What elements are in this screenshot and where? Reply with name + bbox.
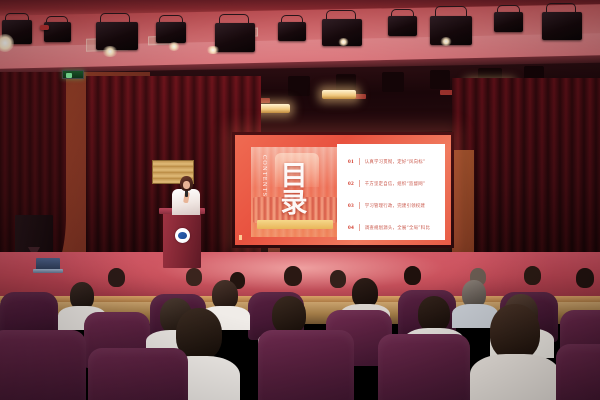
toc-item-text: 认真学习贯彻，定好“风向标” — [365, 159, 426, 165]
toc-item-text: 千方坚定自信，组织“监督网” — [365, 181, 426, 187]
audience-shoulders — [470, 354, 560, 400]
auditorium-photo: CONTENTS 目录 01 认真学习贯彻，定好“风向标” 02 千方坚定自信，… — [0, 0, 600, 400]
slide-heading-chinese: 目录 — [277, 161, 303, 215]
audience-head — [108, 268, 125, 287]
toc-divider — [359, 158, 360, 165]
exit-sign-icon — [62, 70, 84, 79]
light-glow — [338, 38, 349, 46]
warm-stage-light-bar — [322, 90, 356, 99]
auditorium-seat — [88, 348, 188, 400]
toc-divider — [359, 202, 360, 209]
light-glow — [206, 46, 220, 54]
presenter-face — [183, 181, 190, 189]
auditorium-seat — [0, 330, 86, 400]
light-glow — [168, 42, 180, 51]
toc-item-number: 04 — [348, 225, 354, 231]
toc-item: 02 千方坚定自信，组织“监督网” — [348, 180, 425, 187]
auditorium-seat — [258, 330, 354, 400]
slide-contents-english: CONTENTS — [261, 155, 267, 198]
toc-item: 01 认真学习贯彻，定好“风向标” — [348, 158, 425, 165]
microphone-icon — [185, 190, 188, 197]
control-laptop-base — [33, 269, 63, 273]
audience-head — [330, 270, 346, 288]
projection-screen: CONTENTS 目录 01 认真学习贯彻，定好“风向标” 02 千方坚定自信，… — [232, 132, 454, 248]
truss-fixture — [430, 70, 450, 89]
audience-head — [284, 266, 302, 286]
truss-fixture — [382, 72, 404, 92]
toc-item-text: 学习管理行政，完建引领权建 — [365, 203, 425, 209]
slide-text-panel: 01 认真学习贯彻，定好“风向标” 02 千方坚定自信，组织“监督网” 03 学… — [337, 144, 445, 240]
toc-divider — [359, 180, 360, 187]
screen-indicator-light — [239, 235, 242, 240]
toc-item: 03 学习管理行政，完建引领权建 — [348, 202, 425, 209]
audience-head — [524, 266, 541, 285]
truss-fixture — [288, 76, 310, 96]
right-side-curtain — [452, 78, 600, 268]
toc-item-number: 02 — [348, 181, 354, 187]
institutional-emblem-icon — [175, 228, 190, 243]
light-glow — [102, 46, 118, 57]
auditorium-seat — [556, 344, 600, 400]
audience-head — [186, 268, 202, 286]
auditorium-seat — [378, 334, 470, 400]
audience-head — [576, 268, 594, 288]
slide-surface: CONTENTS 目录 01 认真学习贯彻，定好“风向标” 02 千方坚定自信，… — [235, 135, 451, 245]
toc-item-text: 调查规划源头，全展“全局”科比 — [365, 225, 430, 231]
right-wall-warm-strip — [452, 150, 474, 268]
toc-item-number: 03 — [348, 203, 354, 209]
audience-head — [404, 266, 421, 285]
audience-head — [418, 296, 450, 332]
toc-item: 04 调查规划源头，全展“全局”科比 — [348, 224, 430, 231]
toc-item-number: 01 — [348, 159, 354, 165]
light-glow — [440, 37, 452, 46]
audience-head — [490, 304, 540, 360]
photo-banner — [257, 220, 333, 229]
audience-head — [272, 296, 306, 334]
toc-divider — [359, 224, 360, 231]
